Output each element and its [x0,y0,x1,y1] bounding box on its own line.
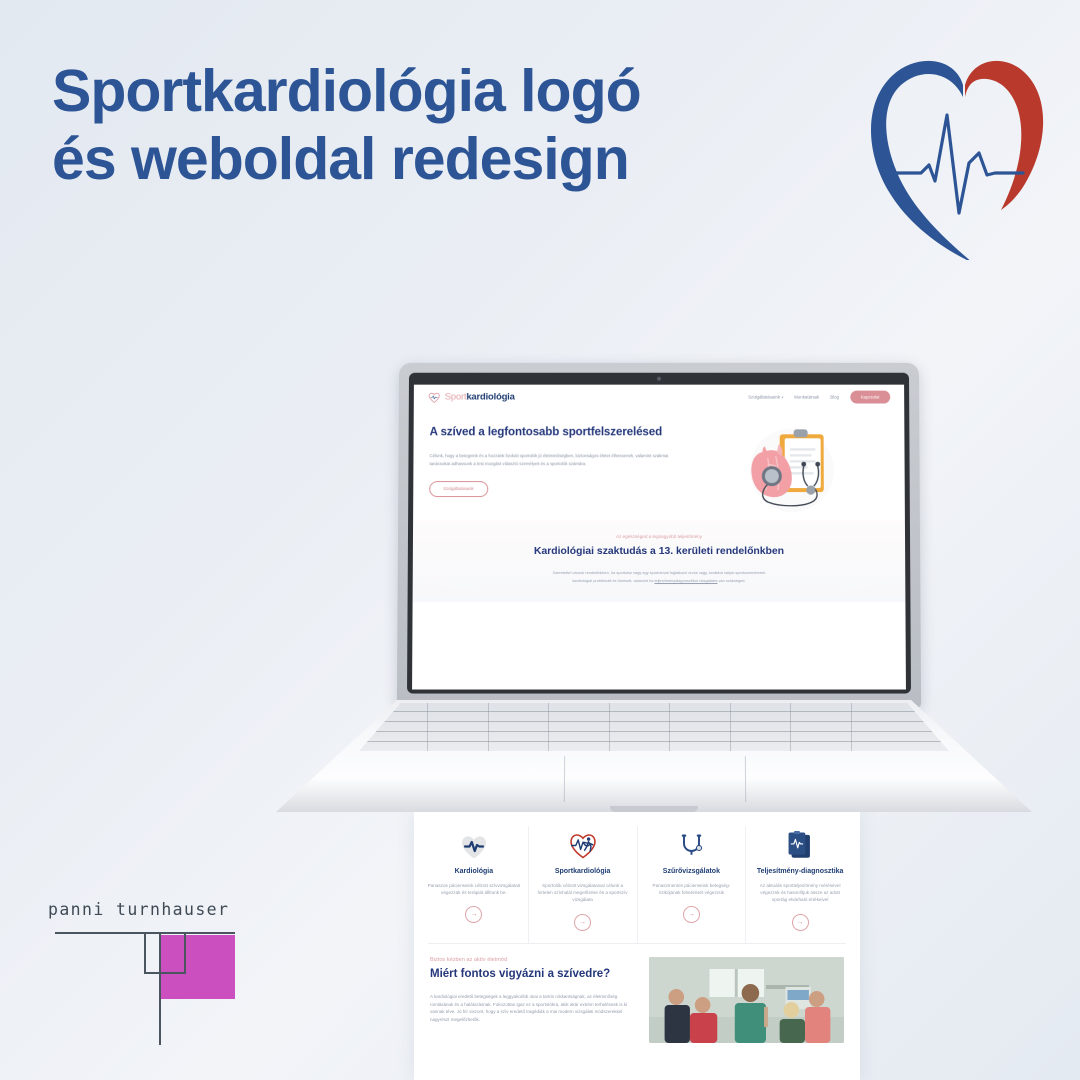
site-brand-text: Sportkardiológia [445,392,515,403]
heart-clipboard-stethoscope-illustration [732,424,850,516]
hero-heading: A szíved a legfontosabb sportfelszerelés… [430,424,687,440]
band-heading: Kardiológiai szaktudás a 13. kerületi re… [453,545,865,559]
band-paragraph: Szeretettel várunk rendelőnkben, ha spor… [544,569,774,583]
chevron-down-icon: ▾ [782,396,784,400]
nav-item-label: Szolgáltatásaink [748,395,780,400]
stethoscope-icon [644,826,740,860]
hero-cta-button[interactable]: Szolgáltatásaink [429,481,488,497]
band-paragraph-c: van szükséged. [717,578,745,583]
designer-name: panni turnhauser [48,900,229,919]
highlight-band-section: Az egészséged a legnagyobb teljesítmény … [413,520,906,602]
service-card-arrow-button[interactable]: → [683,906,700,923]
article-section: Biztos kézben az aktív életmód Miért fon… [414,944,860,1043]
clinic-group-photo [649,957,844,1043]
brand-part-kardiologia: kardiológia [466,392,514,403]
laptop-trackpad[interactable] [564,756,746,802]
laptop-mockup: Sportkardiológia Szolgáltatásaink▾ Munka… [276,362,1032,812]
service-card-text: Panaszos pácienseink célzott szívvizsgál… [426,882,522,897]
designer-signature: panni turnhauser [45,900,245,1045]
nav-item-szolgaltatasaink[interactable]: Szolgáltatásaink▾ [748,395,783,400]
band-kicker: Az egészséged a legnagyobb teljesítmény [453,534,865,539]
hero-section: A szíved a legfontosabb sportfelszerelés… [413,408,905,520]
hero-text-column: A szíved a legfontosabb sportfelszerelés… [429,424,686,516]
service-card-text: Panaszmentes pácienseink betegség-rizikó… [644,882,740,897]
webcam-icon [657,377,661,381]
heart-ecg-logo [855,45,1055,260]
laptop-front-notch [610,806,698,812]
service-card[interactable]: Sportkardiológia Sportolók célzott vizsg… [529,826,638,943]
service-card[interactable]: Szűrővizsgálatok Panaszmentes páciensein… [638,826,747,943]
red-heart-runner-icon [535,826,631,860]
brand-part-sport: Sport [445,392,467,403]
service-card-text: Az aktuális sportteljesítmény mérésével … [752,882,848,904]
service-card-text: Sportolók célzott vizsgálataival célunk … [535,882,631,904]
hero-paragraph: Célunk, hogy a betegeink és a hozzánk fo… [429,452,686,468]
laptop-lid: Sportkardiológia Szolgáltatásaink▾ Munka… [397,363,921,708]
service-card[interactable]: Kardiológia Panaszos pácienseink célzott… [420,826,529,943]
article-text-column: Biztos kézben az aktív életmód Miért fon… [430,957,637,1043]
services-cards: Kardiológia Panaszos pácienseink célzott… [414,812,860,943]
service-card-title: Kardiológia [426,868,522,877]
article-kicker: Biztos kézben az aktív életmód [430,957,637,963]
page-title-line2: és weboldal redesign [52,126,812,194]
band-paragraph-link[interactable]: teljesítménydiagnosztikai vizsgálatra [654,578,717,583]
article-photo-column [649,957,844,1043]
page-title-line1: Sportkardiológia logó [52,58,812,126]
article-paragraph: A kardiológiai eredetű betegségek a legg… [430,993,637,1025]
nav-item-munkatarsak[interactable]: Munkatársak [794,395,819,400]
page-title: Sportkardiológia logó és weboldal redesi… [52,58,812,194]
service-card-arrow-button[interactable]: → [465,906,482,923]
service-card-title: Szűrővizsgálatok [644,868,740,877]
website-page-continuation: Kardiológia Panaszos pácienseink célzott… [414,812,860,1080]
service-card-arrow-button[interactable]: → [792,914,809,931]
clipboard-pulse-icon [752,826,848,860]
laptop-bezel: Sportkardiológia Szolgáltatásaink▾ Munka… [407,373,911,694]
service-card[interactable]: Teljesítmény-diagnosztika Az aktuális sp… [746,826,854,943]
service-card-title: Teljesítmény-diagnosztika [752,868,848,877]
site-brand[interactable]: Sportkardiológia [428,391,515,403]
signature-mark [45,900,245,1045]
site-navbar: Sportkardiológia Szolgáltatásaink▾ Munka… [414,385,904,409]
site-nav-links: Szolgáltatásaink▾ Munkatársak Blog Kapcs… [748,391,890,404]
nav-cta-kapcsolat-button[interactable]: Kapcsolat [850,391,890,404]
heart-outline-icon [428,391,441,403]
nav-item-blog[interactable]: Blog [830,395,839,400]
service-card-title: Sportkardiológia [535,868,631,877]
grey-heart-pulse-icon [426,826,522,860]
laptop-screen: Sportkardiológia Szolgáltatásaink▾ Munka… [412,385,906,690]
hero-illustration-column [693,424,889,516]
website-preview: Sportkardiológia Szolgáltatásaink▾ Munka… [412,385,906,690]
service-card-arrow-button[interactable]: → [574,914,591,931]
article-heading: Miért fontos vigyázni a szívedre? [430,967,637,982]
